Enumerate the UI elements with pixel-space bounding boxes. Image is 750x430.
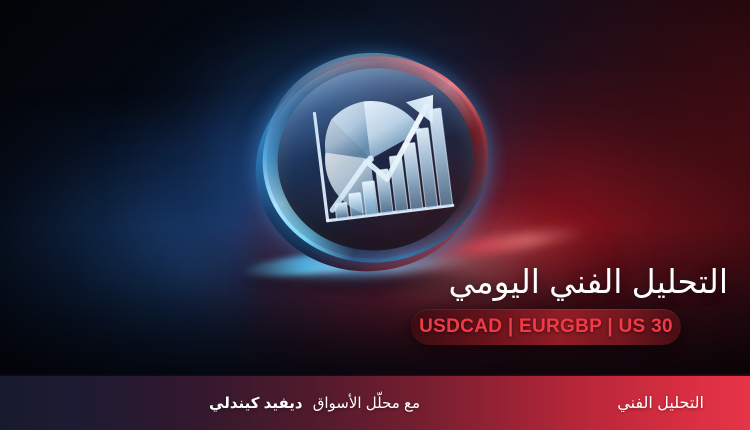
analyst-name: ديفيد كيندلي <box>209 395 303 412</box>
banner-root: التحليل الفني اليومي USDCAD | EURGBP | U… <box>0 0 750 430</box>
vignette-overlay <box>0 0 750 430</box>
analyst-credit: مع محلّل الأسواق ديفيد كيندلي <box>209 394 420 412</box>
currency-pairs-badge: USDCAD | EURGBP | US 30 <box>411 309 681 345</box>
analyst-credit-prefix: مع محلّل الأسواق <box>313 395 420 412</box>
currency-pairs-label: USDCAD | EURGBP | US 30 <box>419 316 673 338</box>
bottom-bar: مع محلّل الأسواق ديفيد كيندلي التحليل ال… <box>0 376 750 430</box>
section-title: التحليل الفني <box>617 393 704 413</box>
page-title: التحليل الفني اليومي <box>449 262 729 301</box>
